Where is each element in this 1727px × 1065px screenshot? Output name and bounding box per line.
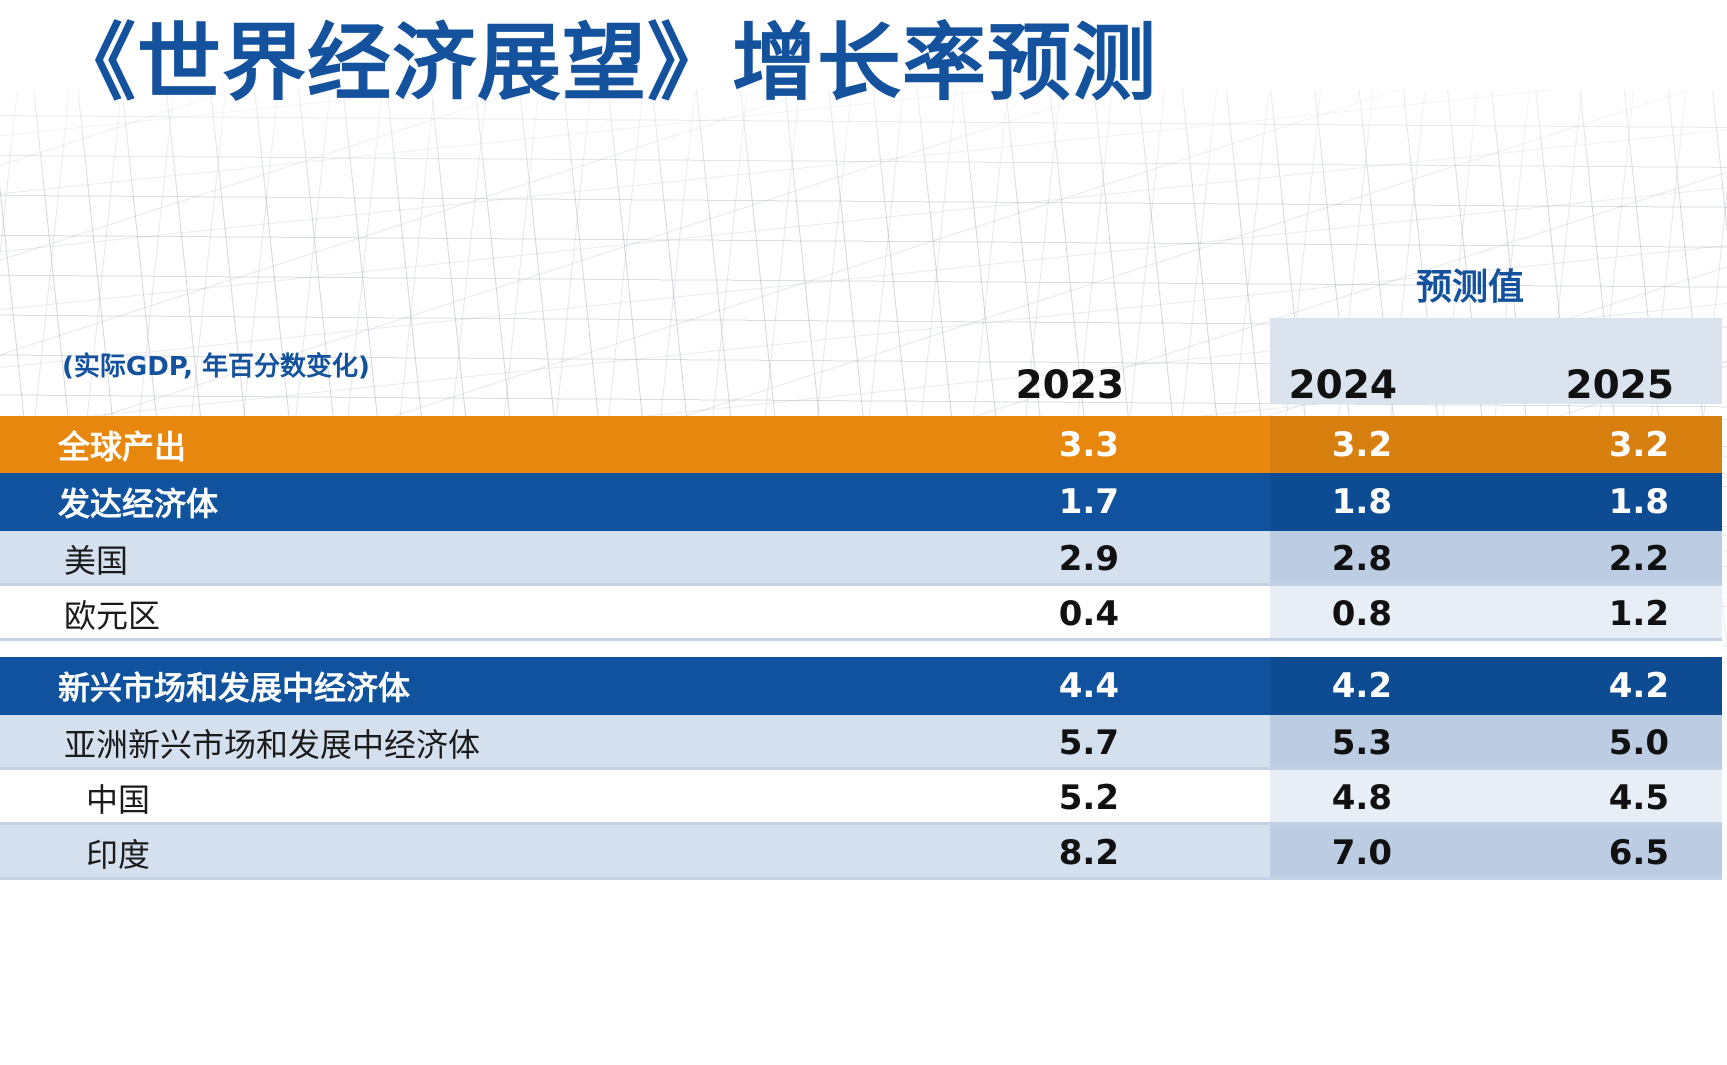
table-row: 新兴市场和发展中经济体4.44.24.2 [0,657,1722,715]
cell-value-2024: 3.2 [1242,425,1392,465]
cell-value-2024: 4.8 [1242,778,1392,818]
row-label: 发达经济体 [58,479,218,525]
cell-value-2025: 1.2 [1519,594,1669,634]
row-label: 美国 [0,536,128,582]
cell-value-2023: 2.9 [969,539,1119,579]
column-header-2024: 2024 [1247,363,1397,408]
cell-value-2024: 2.8 [1242,539,1392,579]
cell-value-2023: 4.4 [969,666,1119,706]
row-label: 全球产出 [58,422,186,468]
forecast-label: 预测值 [1270,258,1670,310]
row-label: 新兴市场和发展中经济体 [58,663,410,709]
cell-value-2025: 4.5 [1519,778,1669,818]
table-row: 印度8.27.06.5 [0,825,1722,880]
cell-value-2024: 0.8 [1242,594,1392,634]
group-gap [0,641,1722,657]
table-header-row: (实际GDP, 年百分数变化) 2023 2024 2025 [0,330,1727,416]
cell-value-2023: 0.4 [969,594,1119,634]
cell-value-2024: 7.0 [1242,833,1392,873]
table-subtitle: (实际GDP, 年百分数变化) [62,346,370,383]
row-label: 中国 [0,775,150,821]
table-row: 中国5.24.84.5 [0,770,1722,825]
column-header-2023: 2023 [974,363,1124,408]
cell-value-2025: 6.5 [1519,833,1669,873]
page-title: 《世界经济展望》增长率预测 [52,0,1157,117]
cell-value-2023: 5.2 [969,778,1119,818]
growth-forecast-table: (实际GDP, 年百分数变化) 2023 2024 2025 全球产出3.33.… [0,330,1727,880]
cell-value-2023: 1.7 [969,482,1119,522]
row-label: 亚洲新兴市场和发展中经济体 [0,720,480,766]
cell-value-2025: 2.2 [1519,539,1669,579]
cell-value-2024: 5.3 [1242,723,1392,763]
table-row: 亚洲新兴市场和发展中经济体5.75.35.0 [0,715,1722,770]
table-row: 全球产出3.33.23.2 [0,416,1722,473]
row-label: 印度 [0,830,150,876]
table-row: 美国2.92.82.2 [0,531,1722,586]
cell-value-2025: 3.2 [1519,425,1669,465]
column-header-2025: 2025 [1524,363,1674,408]
table-row: 发达经济体1.71.81.8 [0,473,1722,531]
cell-value-2025: 5.0 [1519,723,1669,763]
cell-value-2025: 1.8 [1519,482,1669,522]
cell-value-2023: 5.7 [969,723,1119,763]
cell-value-2024: 1.8 [1242,482,1392,522]
table-row: 欧元区0.40.81.2 [0,586,1722,641]
cell-value-2025: 4.2 [1519,666,1669,706]
cell-value-2024: 4.2 [1242,666,1392,706]
cell-value-2023: 8.2 [969,833,1119,873]
cell-value-2023: 3.3 [969,425,1119,465]
row-label: 欧元区 [0,591,160,637]
row-divider [0,877,1722,880]
